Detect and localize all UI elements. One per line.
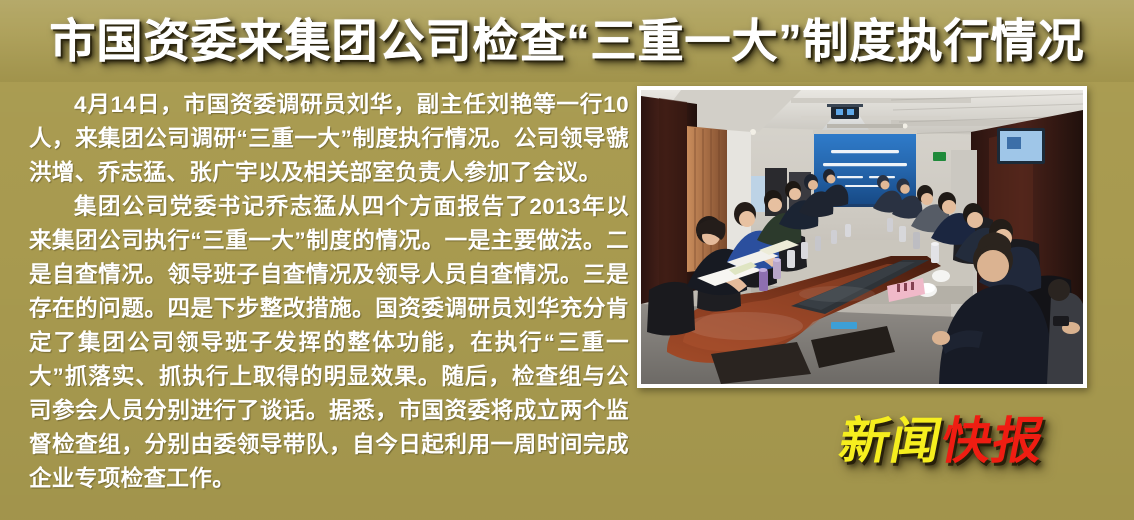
- article-paragraph-1: 4月14日，市国资委调研员刘华，副主任刘艳等一行10人，来集团公司调研“三重一大…: [29, 88, 629, 190]
- meeting-photo: [641, 90, 1083, 384]
- meeting-photo-frame: [637, 86, 1087, 388]
- news-flash-logo-red: 快报: [936, 412, 1049, 470]
- news-poster: 市国资委来集团公司检查“三重一大”制度执行情况 4月14日，市国资委调研员刘华，…: [0, 0, 1134, 520]
- news-flash-logo: 新闻快报: [834, 412, 1049, 470]
- page-title: 市国资委来集团公司检查“三重一大”制度执行情况: [50, 15, 1085, 67]
- article-paragraph-2: 集团公司党委书记乔志猛从四个方面报告了2013年以来集团公司执行“三重一大”制度…: [29, 190, 629, 496]
- article-body: 4月14日，市国资委调研员刘华，副主任刘艳等一行10人，来集团公司调研“三重一大…: [29, 88, 629, 496]
- meeting-photo-illustration: [641, 90, 1083, 384]
- news-flash-logo-yellow: 新闻: [834, 412, 947, 470]
- poster-title-band: 市国资委来集团公司检查“三重一大”制度执行情况: [0, 0, 1134, 82]
